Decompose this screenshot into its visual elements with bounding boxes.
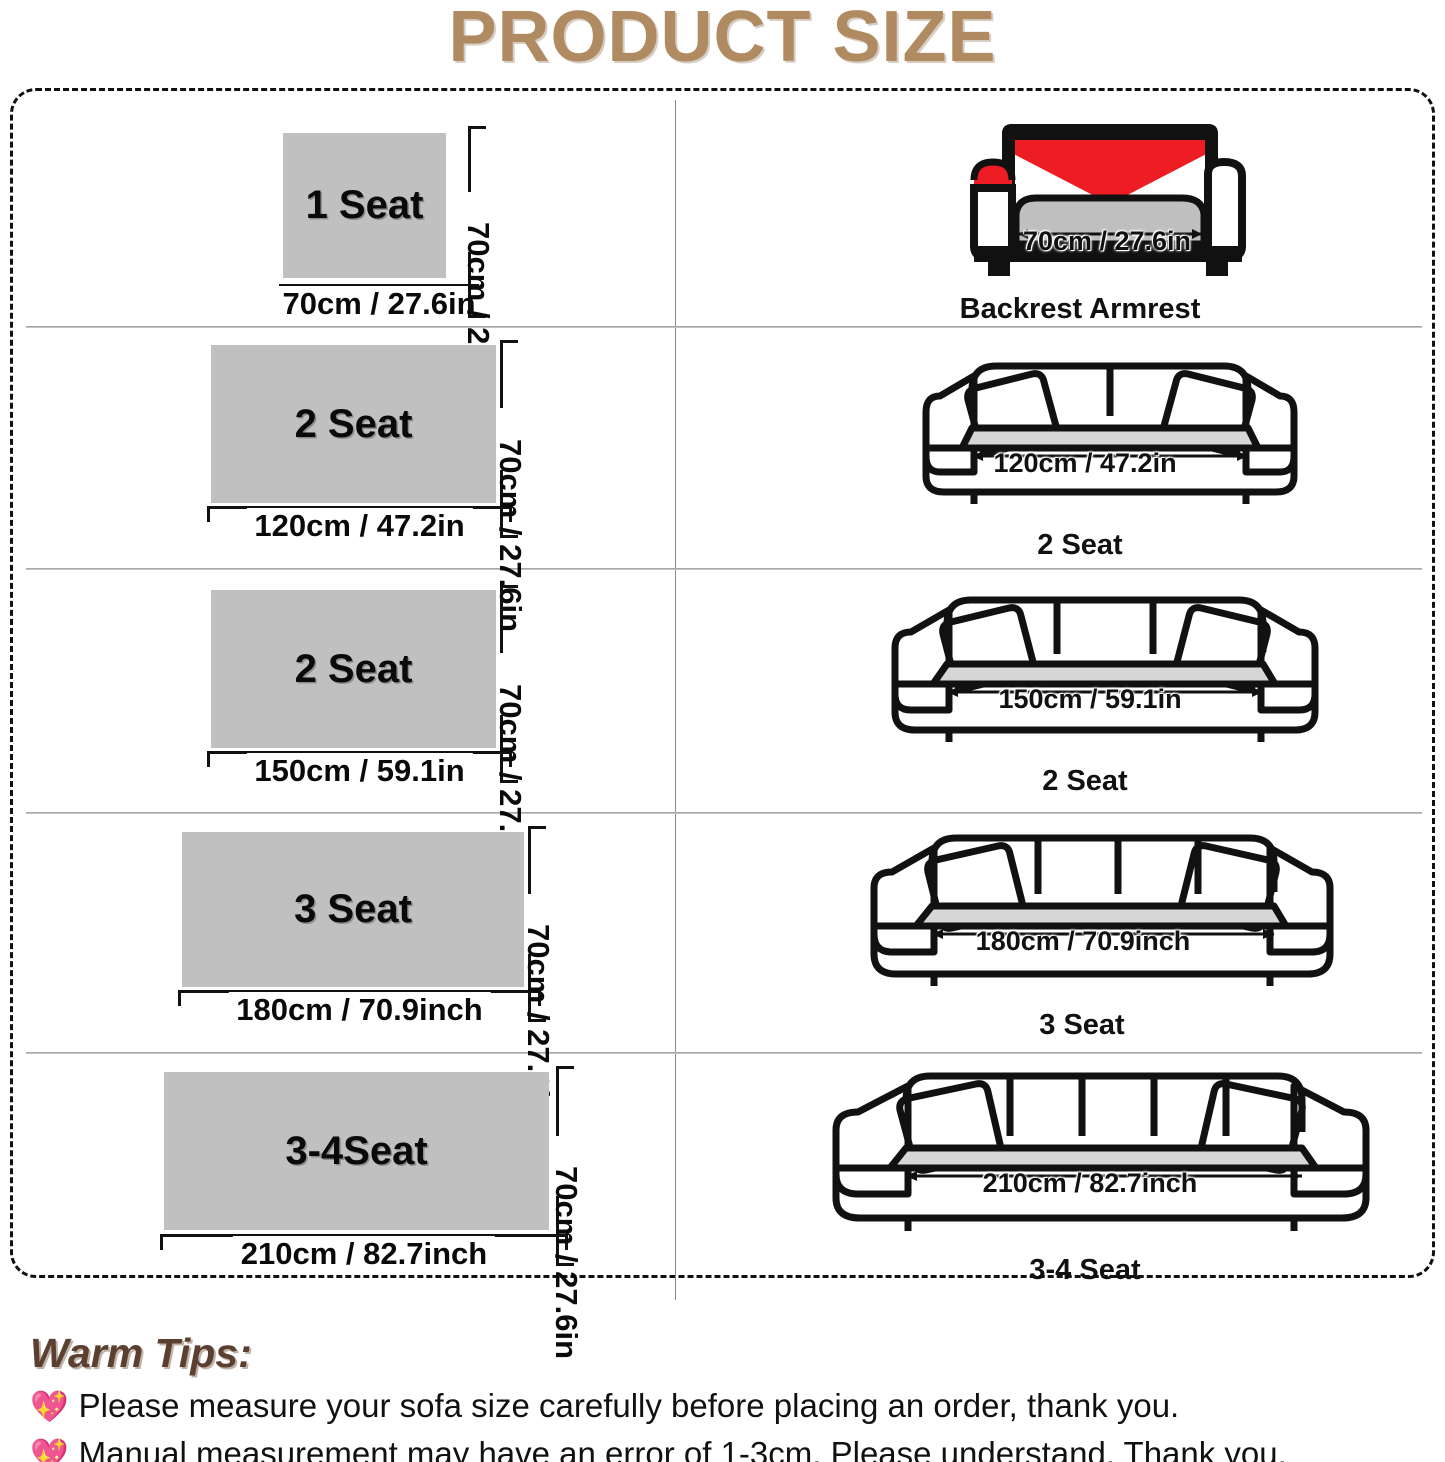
warm-tip-item: 💖 Please measure your sofa size carefull… (30, 1387, 1430, 1425)
sofa-dimension-label: 210cm / 82.7inch (935, 1168, 1245, 1199)
width-dimension: 120cm / 47.2in (207, 506, 512, 548)
width-dimension: 180cm / 70.9inch (178, 990, 541, 1032)
sofa-2-seat-icon (910, 352, 1310, 510)
warm-tips-section: Warm Tips: 💖 Please measure your sofa si… (30, 1330, 1430, 1462)
row-divider-3 (26, 812, 1422, 814)
rect-shape: 3-4Seat (164, 1072, 549, 1230)
sofa-caption: 3 Seat (832, 1009, 1332, 1042)
rect-label: 1 Seat (306, 183, 424, 228)
width-dimension-label: 150cm / 59.1in (246, 753, 472, 789)
warm-tips-title: Warm Tips: (30, 1330, 1430, 1377)
sparkling-heart-icon: 💖 (30, 1391, 69, 1422)
sofa-caption: 2 Seat (880, 529, 1280, 562)
sofa-illustration-2-seat: 120cm / 47.2in 2 Seat (880, 352, 1340, 562)
sofa-illustration-3-seat: 180cm / 70.9inch 3 Seat (832, 826, 1372, 1042)
sofa-caption: 2 Seat (855, 765, 1315, 798)
row-divider-1 (26, 326, 1422, 328)
sofa-illustration-2-seat-150: 150cm / 59.1in 2 Seat (855, 588, 1355, 798)
sparkling-heart-icon: 💖 (30, 1439, 69, 1462)
sofa-dimension-label: 120cm / 47.2in (950, 448, 1220, 479)
sofa-4-cushion-icon (852, 826, 1352, 994)
warm-tip-item: 💖 Manual measurement may have an error o… (30, 1435, 1430, 1462)
rect-shape: 1 Seat (283, 133, 446, 278)
rect-shape: 2 Seat (211, 590, 496, 748)
page-title: PRODUCT SIZE (0, 0, 1445, 78)
width-dimension-label: 210cm / 82.7inch (233, 1236, 495, 1272)
width-dimension: 210cm / 82.7inch (160, 1234, 568, 1276)
sofa-dimension-label: 150cm / 59.1in (945, 684, 1235, 715)
height-dimension-label: 70cm / 27.6in (492, 439, 528, 632)
sofa-illustration-3-4-seat: 210cm / 82.7inch 3-4 Seat (795, 1066, 1405, 1287)
column-divider (675, 100, 676, 1300)
rect-shape: 3 Seat (182, 832, 524, 987)
sofa-caption: 3-4 Seat (795, 1254, 1375, 1287)
width-dimension: 150cm / 59.1in (207, 751, 512, 793)
sofa-dimension-label: 70cm / 27.6in (982, 226, 1232, 257)
width-dimension-label: 120cm / 47.2in (246, 508, 472, 544)
row-divider-2 (26, 568, 1422, 570)
armchair-icon (960, 118, 1260, 286)
row-divider-4 (26, 1052, 1422, 1054)
sofa-dimension-label: 180cm / 70.9inch (928, 926, 1238, 957)
rect-shape: 2 Seat (211, 345, 496, 503)
rect-label: 2 Seat (295, 647, 413, 692)
width-dimension-label: 70cm / 27.6in (274, 286, 483, 322)
sofa-3-cushion-icon (875, 588, 1335, 748)
warm-tip-text: Please measure your sofa size carefully … (79, 1387, 1180, 1425)
rect-label: 3 Seat (294, 887, 412, 932)
rect-label: 2 Seat (295, 402, 413, 447)
sofa-5-cushion-icon (810, 1066, 1390, 1241)
rect-label: 3-4Seat (285, 1129, 427, 1174)
product-size-infographic: PRODUCT SIZE 1 Seat 70cm / 27.6in 70cm /… (0, 0, 1445, 1462)
sofa-illustration-armchair: 70cm / 27.6in Backrest Armrest (930, 118, 1290, 326)
sofa-caption: Backrest Armrest (930, 293, 1230, 326)
width-dimension: 70cm / 27.6in (279, 284, 479, 326)
width-dimension-label: 180cm / 70.9inch (228, 992, 490, 1028)
warm-tip-text: Manual measurement may have an error of … (79, 1435, 1287, 1462)
